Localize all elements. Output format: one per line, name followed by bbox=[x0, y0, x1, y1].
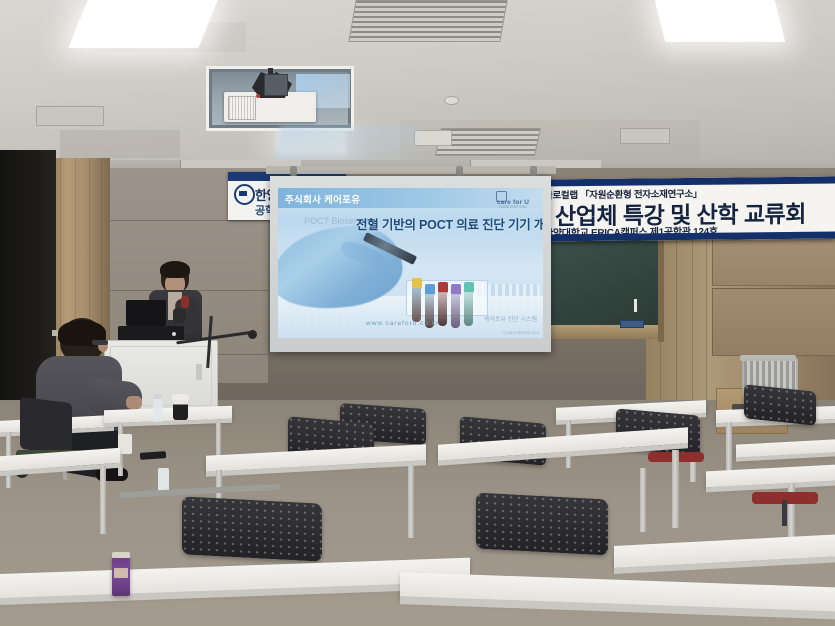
slide-header-text: 주식회사 케어포유 bbox=[285, 192, 360, 206]
wood-panel bbox=[712, 288, 835, 356]
handheld-microphone bbox=[181, 296, 189, 308]
projector-unit bbox=[264, 74, 288, 96]
podium-control-panel[interactable] bbox=[196, 364, 202, 380]
presenter-hair bbox=[160, 261, 190, 278]
screen-hook bbox=[530, 166, 537, 176]
projector-housing bbox=[206, 66, 354, 131]
university-logo-icon bbox=[234, 184, 255, 205]
smoke-detector-icon bbox=[444, 96, 459, 105]
screen-mount-bar bbox=[266, 166, 556, 174]
vial-tube bbox=[451, 294, 460, 328]
vial-tube bbox=[438, 292, 447, 326]
ceiling-panel bbox=[36, 106, 104, 126]
slide-url: www.careforu.co.kr bbox=[366, 320, 439, 327]
juice-carton-top bbox=[112, 552, 130, 558]
projector-indicator-icon bbox=[256, 94, 260, 98]
banner-main: 글로컬랩 「자원순환형 전자소재연구소」 ) 산업체 특강 및 산학 교류회 한… bbox=[540, 176, 835, 241]
screen-hook bbox=[456, 166, 463, 176]
lecture-room-photo: 한양 공학 글로컬랩 「자원순환형 전자소재연구소」 ) 산업체 특강 및 산학… bbox=[0, 0, 835, 626]
slide-corner-note: 케어포유 진단 시스템 bbox=[484, 316, 537, 324]
slide-company-logo: care for U CARE FOR YOU bbox=[489, 191, 537, 208]
coffee-cup[interactable] bbox=[118, 434, 132, 454]
attendee-hand bbox=[126, 396, 142, 409]
bottle-cap bbox=[154, 394, 162, 399]
laptop-indicator-icon bbox=[172, 332, 176, 336]
chalkboard-edge bbox=[658, 232, 664, 342]
chair-back[interactable] bbox=[182, 496, 322, 561]
vial-tube bbox=[412, 288, 421, 322]
ceiling-light bbox=[68, 0, 217, 48]
chair-back[interactable] bbox=[476, 493, 608, 556]
ceiling-panel bbox=[620, 128, 670, 144]
chalk-stick[interactable] bbox=[634, 299, 637, 312]
ceiling-light bbox=[655, 0, 785, 42]
logo-subtext: CARE FOR YOU bbox=[489, 205, 537, 209]
vial-tube bbox=[464, 292, 473, 326]
ceiling-speaker bbox=[414, 130, 452, 146]
projector-grille-icon bbox=[228, 96, 256, 120]
projection-screen: 주식회사 케어포유 care for U CARE FOR YOU POCT B… bbox=[270, 176, 551, 352]
water-bottle[interactable] bbox=[153, 398, 163, 422]
ceiling-tile-stain bbox=[60, 130, 180, 158]
desk-leg bbox=[640, 468, 646, 532]
desk-leg bbox=[408, 466, 414, 538]
slide-title: 전혈 기반의 POCT 의료 진단 기기 개발 bbox=[356, 214, 543, 233]
chair-back bbox=[20, 397, 72, 455]
desk-leg bbox=[672, 450, 679, 528]
hvac-vent bbox=[348, 0, 507, 42]
screen-hook bbox=[290, 166, 297, 176]
coffee-cup-lid bbox=[172, 394, 189, 400]
storage-basket-rim bbox=[740, 355, 796, 361]
presenter-hand bbox=[173, 308, 186, 323]
chair-post bbox=[782, 500, 787, 526]
juice-carton-label bbox=[114, 568, 128, 578]
slide-footer: 주식회사 케어포유 2023 bbox=[503, 331, 539, 336]
desk-leg bbox=[100, 466, 106, 534]
microphone-head-icon bbox=[248, 330, 257, 339]
coffee-cup[interactable] bbox=[173, 398, 188, 420]
presentation-slide: 주식회사 케어포유 care for U CARE FOR YOU POCT B… bbox=[278, 188, 543, 338]
attendee-glasses bbox=[92, 340, 108, 345]
chalkboard-eraser[interactable] bbox=[620, 320, 644, 328]
